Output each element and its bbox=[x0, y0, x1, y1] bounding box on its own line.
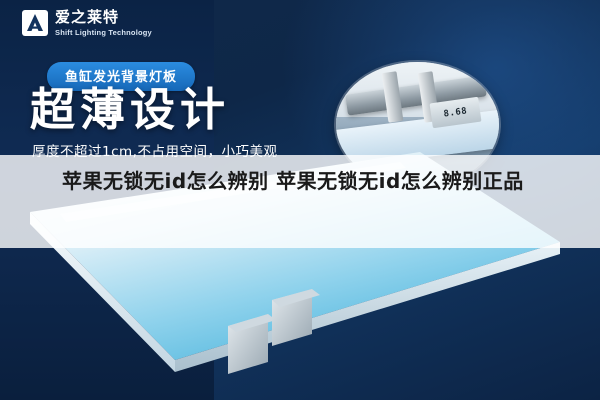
headline-text: 超薄设计 bbox=[30, 86, 230, 133]
logo-mark-icon bbox=[22, 10, 48, 36]
brand-logo: 爱之莱特 Shift Lighting Technology bbox=[22, 10, 152, 37]
banner-image: 爱之莱特 Shift Lighting Technology 鱼缸发光背景灯板 … bbox=[0, 0, 600, 400]
brand-name-cn: 爱之莱特 bbox=[55, 10, 152, 25]
overlay-title: 苹果无锁无id怎么辨别 苹果无锁无id怎么辨别正品 bbox=[62, 166, 562, 197]
brand-name-en: Shift Lighting Technology bbox=[55, 29, 152, 37]
